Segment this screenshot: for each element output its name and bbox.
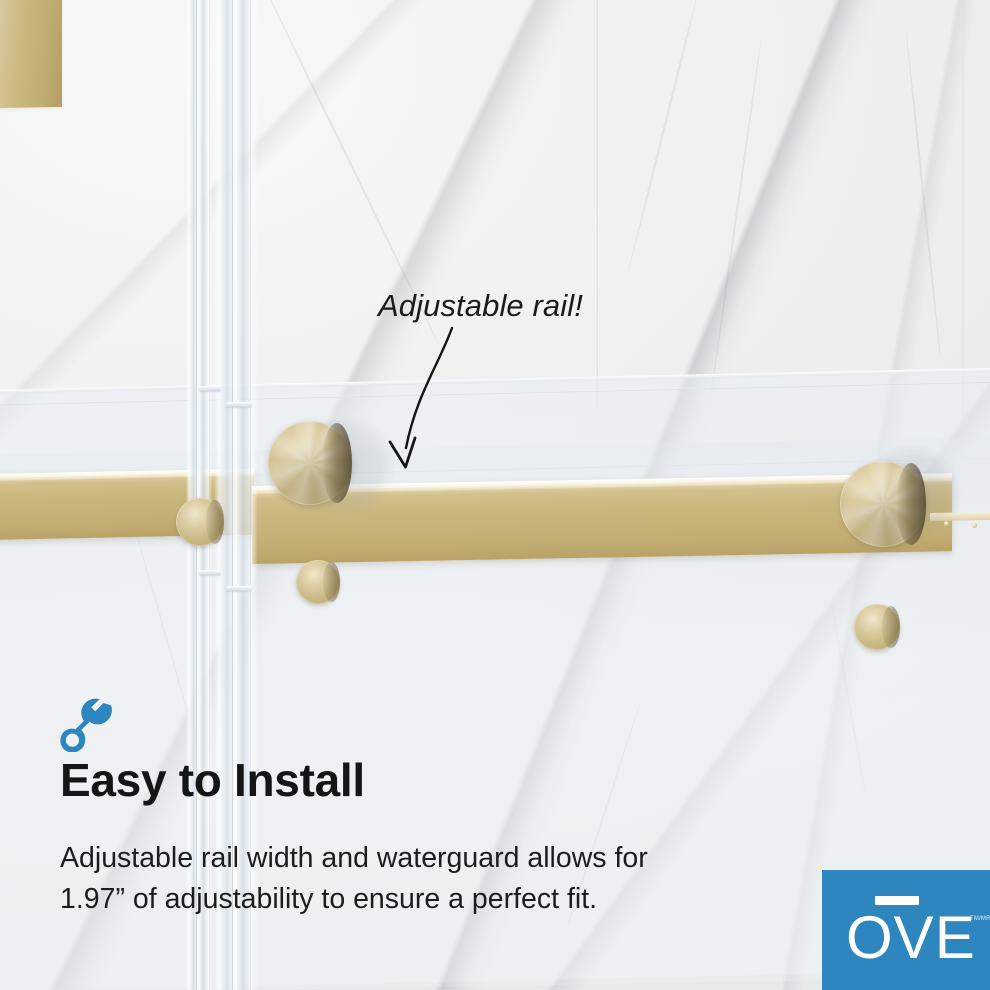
strip-notch: [199, 386, 221, 391]
feature-description-line-1: Adjustable rail width and waterguard all…: [60, 838, 740, 879]
curved-down-arrow-icon: [360, 322, 480, 482]
bracket-screw: [972, 523, 977, 528]
rail-end-bracket: [0, 0, 62, 108]
lower-guide-knob-left: [296, 560, 340, 604]
strip-notch: [226, 586, 252, 591]
feature-description: Adjustable rail width and waterguard all…: [60, 838, 740, 920]
page-title: Easy to Install: [60, 753, 365, 807]
lower-guide-knob-right: [854, 604, 900, 650]
feature-description-line-2: 1.97” of adjustability to ensure a perfe…: [60, 879, 740, 920]
tile-grout-vertical: [596, 0, 598, 410]
brand-name: OVE: [846, 908, 976, 968]
annotation-label: Adjustable rail!: [378, 288, 583, 324]
product-feature-card: Adjustable rail! Easy to Install Adjusta…: [0, 0, 990, 990]
brand-logo: OVE TM/MR: [822, 870, 990, 990]
wrench-icon: [58, 696, 114, 752]
rail-stop-knob: [176, 498, 224, 546]
trademark-mark: TM/MR: [970, 916, 990, 922]
roller-wheel-right: [840, 461, 926, 547]
roller-wheel-left: [268, 421, 352, 505]
strip-notch: [199, 570, 221, 575]
strip-notch: [226, 402, 252, 407]
